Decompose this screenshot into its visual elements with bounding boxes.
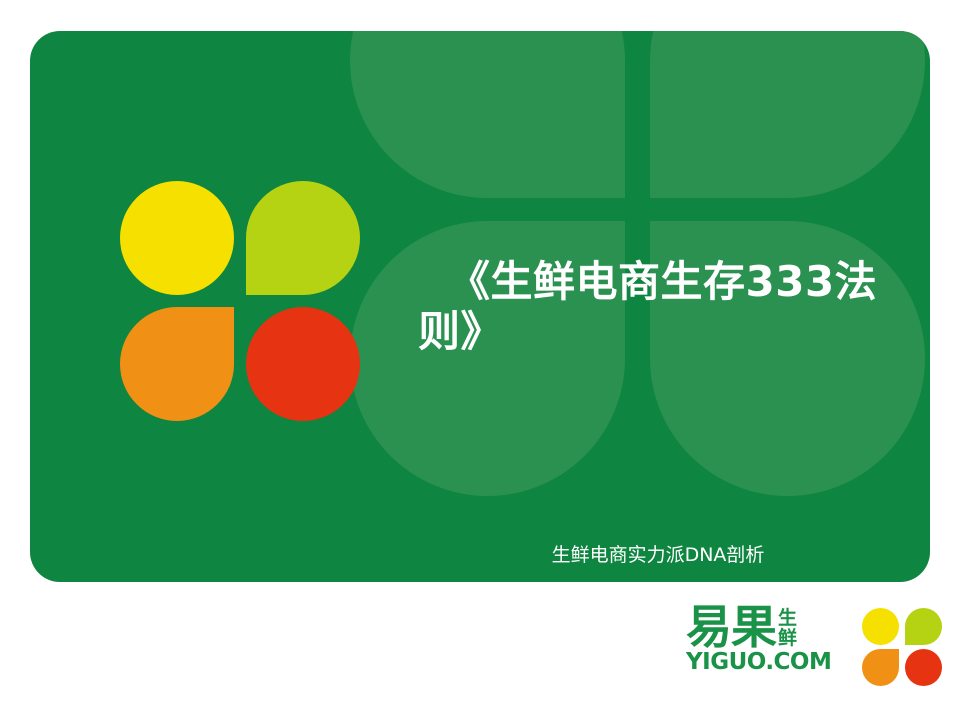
hero-card: 《生鲜电商生存333法则》 生鲜电商实力派DNA剖析 xyxy=(30,31,930,582)
logo-flower-mark xyxy=(862,608,946,686)
logo-green-petal-icon xyxy=(905,608,942,645)
brand-flower-mark xyxy=(120,181,360,421)
slide-title: 《生鲜电商生存333法则》 xyxy=(418,257,898,356)
logo-suffix-char-top: 生 xyxy=(778,608,797,629)
subtitle-block: 生鲜电商实力派DNA剖析 xyxy=(418,543,898,568)
watermark-petal-top-right xyxy=(650,31,925,198)
yellow-petal-icon xyxy=(120,181,234,295)
slide-subtitle: 生鲜电商实力派DNA剖析 xyxy=(418,543,898,568)
logo-red-petal-icon xyxy=(905,649,942,686)
red-petal-icon xyxy=(246,307,360,421)
orange-petal-icon xyxy=(120,307,234,421)
logo-suffix-char-bottom: 鲜 xyxy=(778,628,797,649)
logo-brand-name-cn: 易果 xyxy=(686,604,776,650)
watermark-petal-top-left xyxy=(350,31,625,198)
title-block: 《生鲜电商生存333法则》 xyxy=(418,257,898,356)
logo-brand-suffix-cn: 生 鲜 xyxy=(778,608,797,649)
slide-canvas: 《生鲜电商生存333法则》 生鲜电商实力派DNA剖析 易果 生 鲜 YIGUO.… xyxy=(0,0,960,720)
logo-wordmark: 易果 生 鲜 YIGUO.COM xyxy=(686,604,850,690)
logo-chinese-row: 易果 生 鲜 xyxy=(686,604,850,650)
footer-logo: 易果 生 鲜 YIGUO.COM xyxy=(686,604,948,696)
logo-domain-text: YIGUO.COM xyxy=(686,651,850,674)
green-petal-icon xyxy=(246,181,360,295)
logo-yellow-petal-icon xyxy=(862,608,899,645)
logo-orange-petal-icon xyxy=(862,649,899,686)
